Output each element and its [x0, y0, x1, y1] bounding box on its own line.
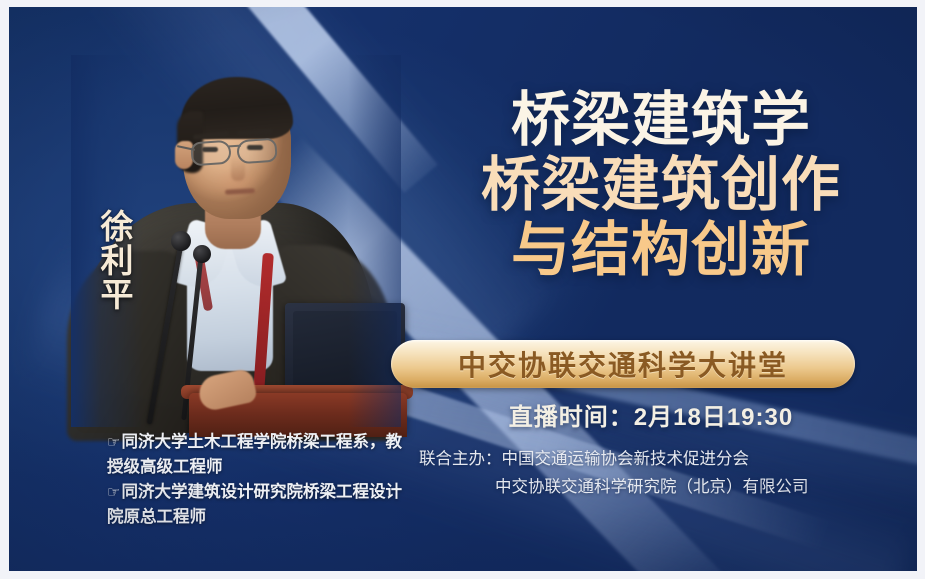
credential-text-1: 同济大学土木工程学院桥梁工程系，教授级高级工程师 [107, 433, 402, 476]
organizers-block: 联合主办：中国交通运输协会新技术促进分会 中交协联交通科学研究院（北京）有限公司 [419, 445, 889, 502]
headline-line-1: 桥梁建筑学 [401, 91, 917, 150]
credential-text-2: 同济大学建筑设计研究院桥梁工程设计院原总工程师 [107, 483, 402, 526]
series-badge-label: 中交协联交通科学大讲堂 [458, 344, 788, 384]
credential-line-2: ☞同济大学建筑设计研究院桥梁工程设计院原总工程师 [107, 480, 403, 530]
speaker-name: 徐利平 [97, 209, 131, 311]
poster-canvas: 徐利平 ☞同济大学土木工程学院桥梁工程系，教授级高级工程师 ☞同济大学建筑设计研… [9, 7, 917, 571]
photo-microphone-head-2 [193, 245, 211, 263]
speaker-credentials: ☞同济大学土木工程学院桥梁工程系，教授级高级工程师 ☞同济大学建筑设计研究院桥梁… [107, 430, 403, 530]
organizer-line-1: 联合主办：中国交通运输协会新技术促进分会 [419, 445, 889, 473]
credential-line-1: ☞同济大学土木工程学院桥梁工程系，教授级高级工程师 [107, 430, 403, 480]
photo-nose [231, 155, 245, 181]
poster-frame: 徐利平 ☞同济大学土木工程学院桥梁工程系，教授级高级工程师 ☞同济大学建筑设计研… [0, 0, 925, 579]
organizer-line-2: 中交协联交通科学研究院（北京）有限公司 [419, 473, 889, 501]
photo-glasses-lens-left [190, 140, 232, 167]
series-badge[interactable]: 中交协联交通科学大讲堂 [391, 340, 855, 388]
headline-block: 桥梁建筑学 桥梁建筑创作 与结构创新 [401, 91, 917, 280]
photo-microphone-head [171, 231, 191, 251]
headline-line-3: 与结构创新 [401, 221, 917, 280]
pointing-hand-icon: ☞ [107, 434, 120, 451]
headline-line-2: 桥梁建筑创作 [401, 156, 917, 215]
livestream-time: 直播时间：2月18日19:30 [401, 397, 901, 432]
pointing-hand-icon: ☞ [107, 484, 120, 501]
